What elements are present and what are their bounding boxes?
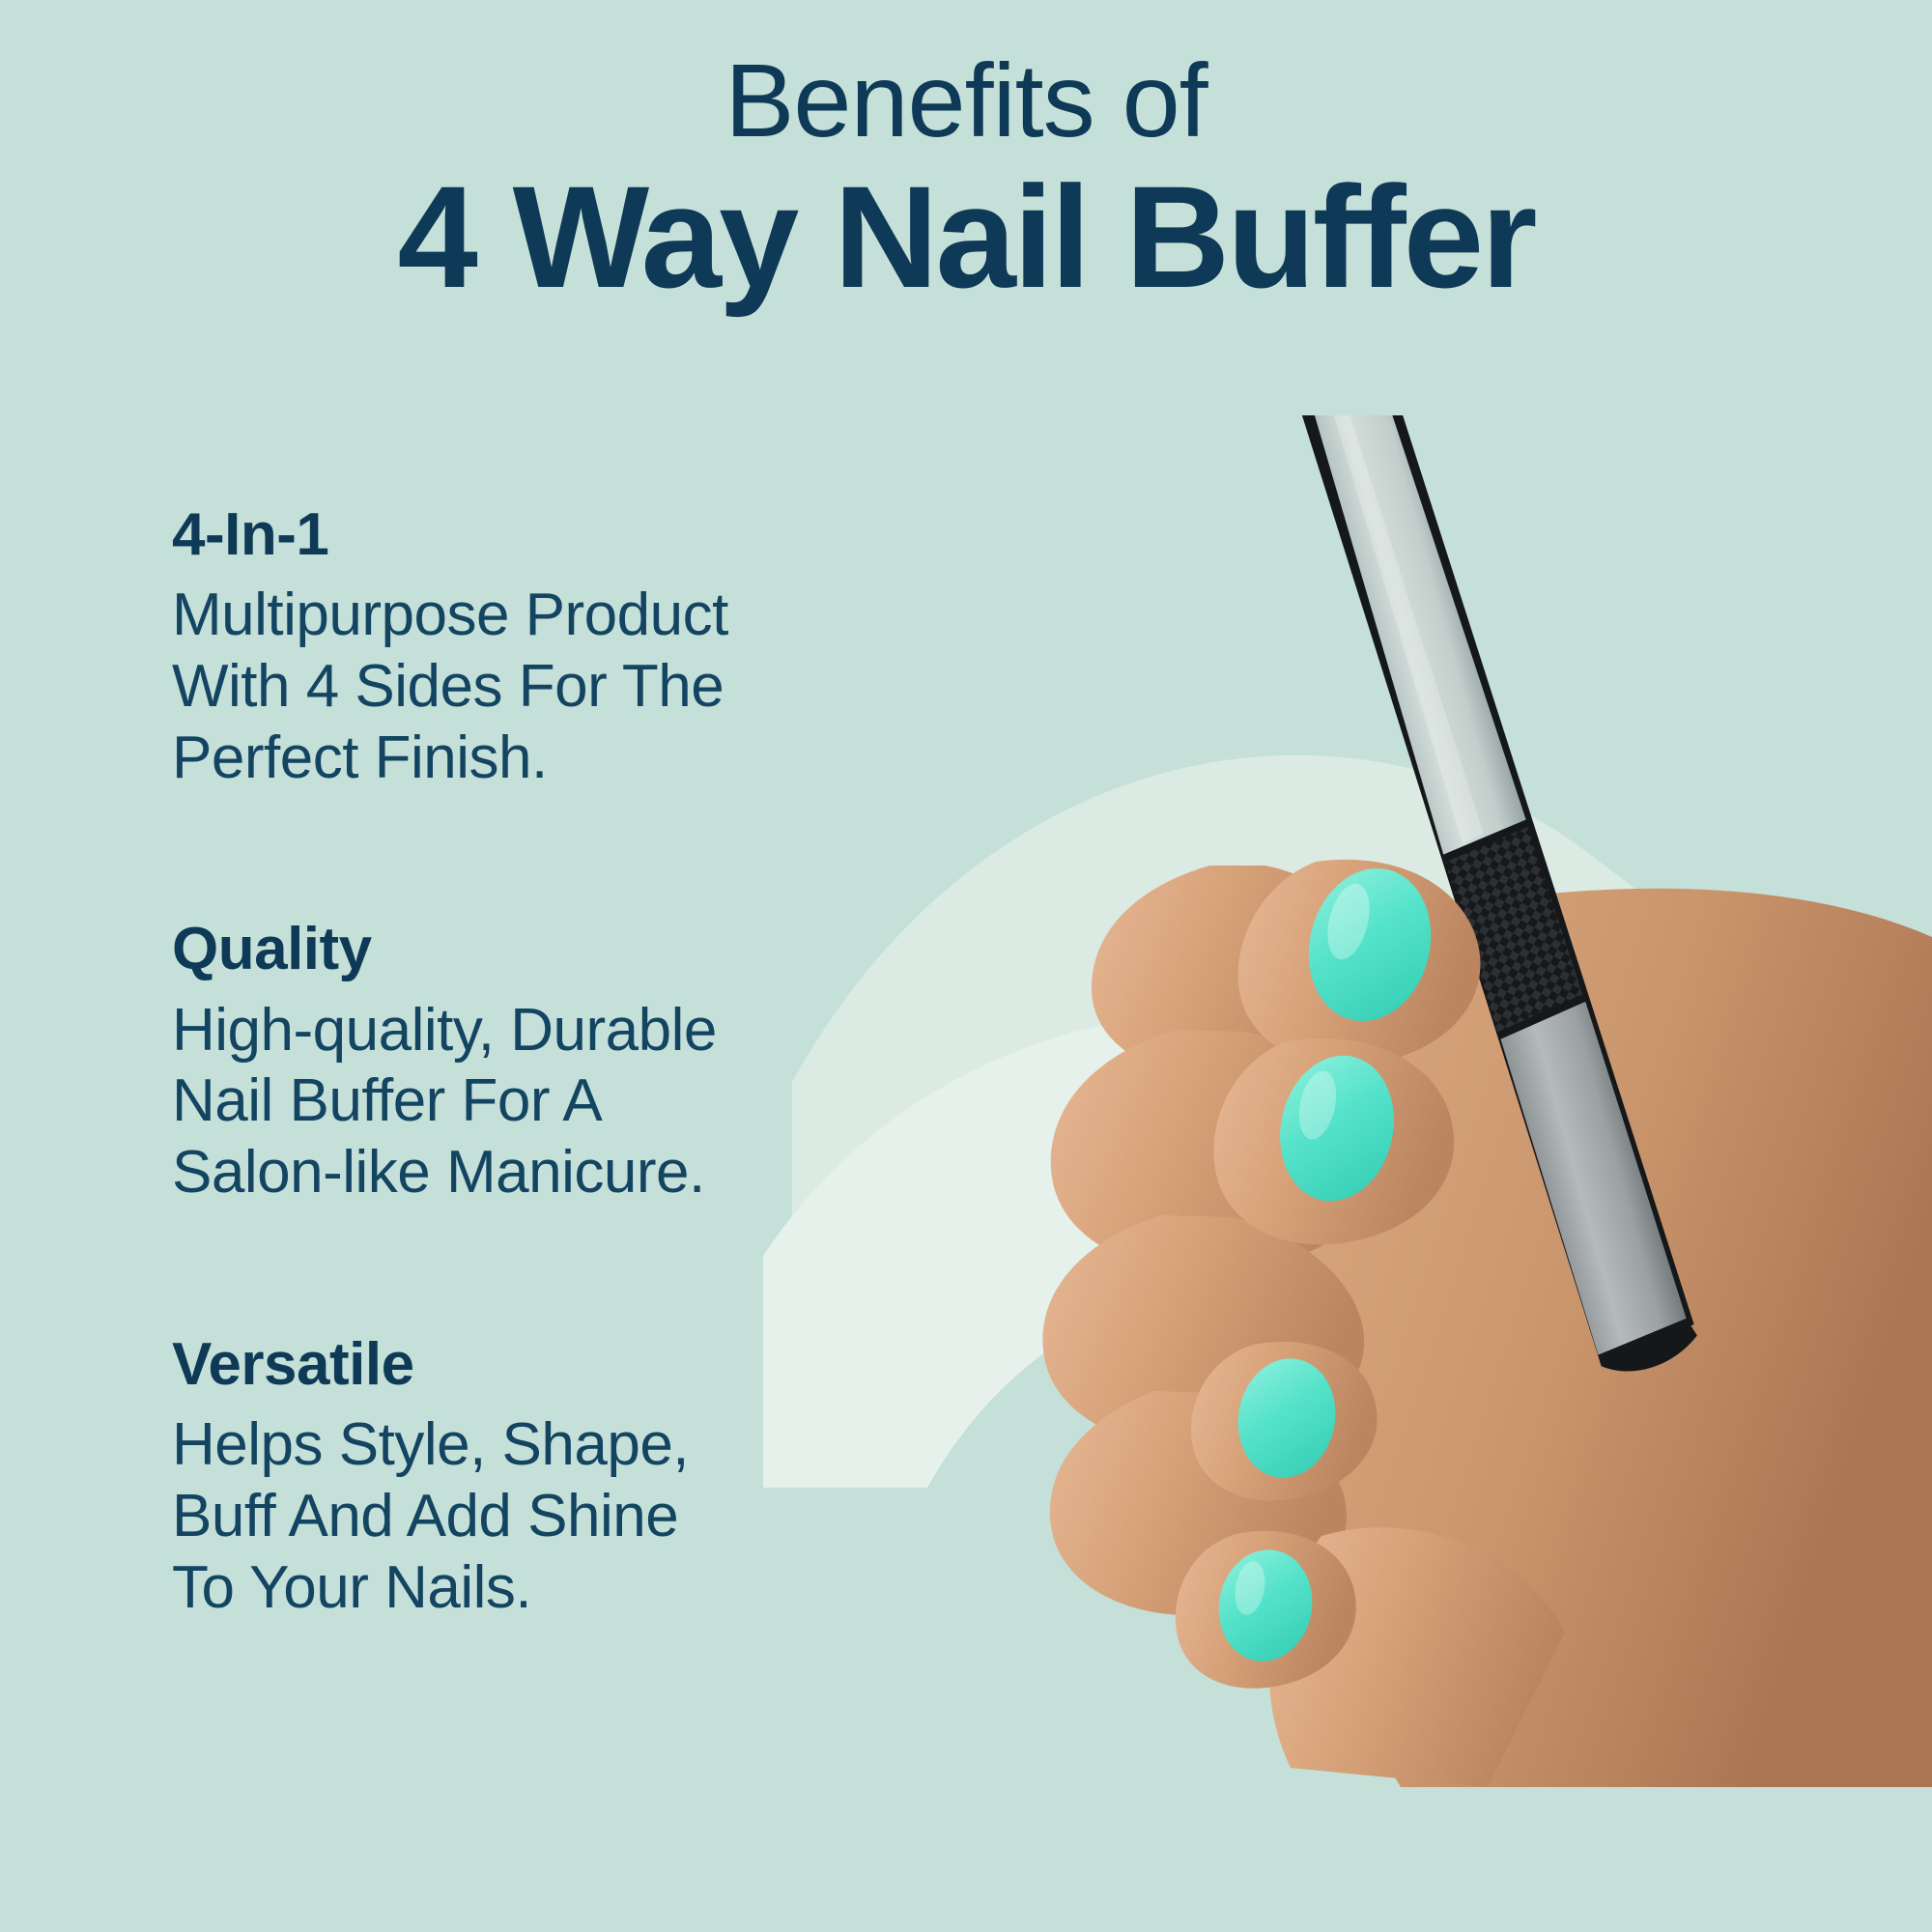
benefit-title: Versatile	[172, 1332, 906, 1398]
benefit-description: High-quality, Durable Nail Buffer For A …	[172, 995, 906, 1208]
page-title: 4 Way Nail Buffer	[0, 160, 1932, 314]
benefits-list: 4-In-1 Multipurpose Product With 4 Sides…	[172, 502, 906, 1623]
benefit-title: Quality	[172, 917, 906, 982]
benefit-description: Multipurpose Product With 4 Sides For Th…	[172, 580, 906, 793]
benefit-line: To Your Nails.	[172, 1552, 906, 1624]
benefit-description: Helps Style, Shape, Buff And Add Shine T…	[172, 1409, 906, 1623]
benefit-item-quality: Quality High-quality, Durable Nail Buffe…	[172, 917, 906, 1207]
benefit-item-4-in-1: 4-In-1 Multipurpose Product With 4 Sides…	[172, 502, 906, 793]
benefit-line: Perfect Finish.	[172, 723, 906, 794]
benefit-line: With 4 Sides For The	[172, 651, 906, 723]
benefit-line: Buff And Add Shine	[172, 1481, 906, 1552]
benefit-line: Salon-like Manicure.	[172, 1137, 906, 1208]
header: Benefits of 4 Way Nail Buffer	[0, 46, 1932, 314]
eyebrow-text: Benefits of	[0, 46, 1932, 155]
benefit-line: High-quality, Durable	[172, 995, 906, 1066]
benefit-line: Nail Buffer For A	[172, 1065, 906, 1137]
benefit-line: Multipurpose Product	[172, 580, 906, 651]
benefit-item-versatile: Versatile Helps Style, Shape, Buff And A…	[172, 1332, 906, 1623]
benefit-title: 4-In-1	[172, 502, 906, 568]
benefit-line: Helps Style, Shape,	[172, 1409, 906, 1481]
product-photo: smooth 2 shape 1	[947, 415, 1932, 1787]
